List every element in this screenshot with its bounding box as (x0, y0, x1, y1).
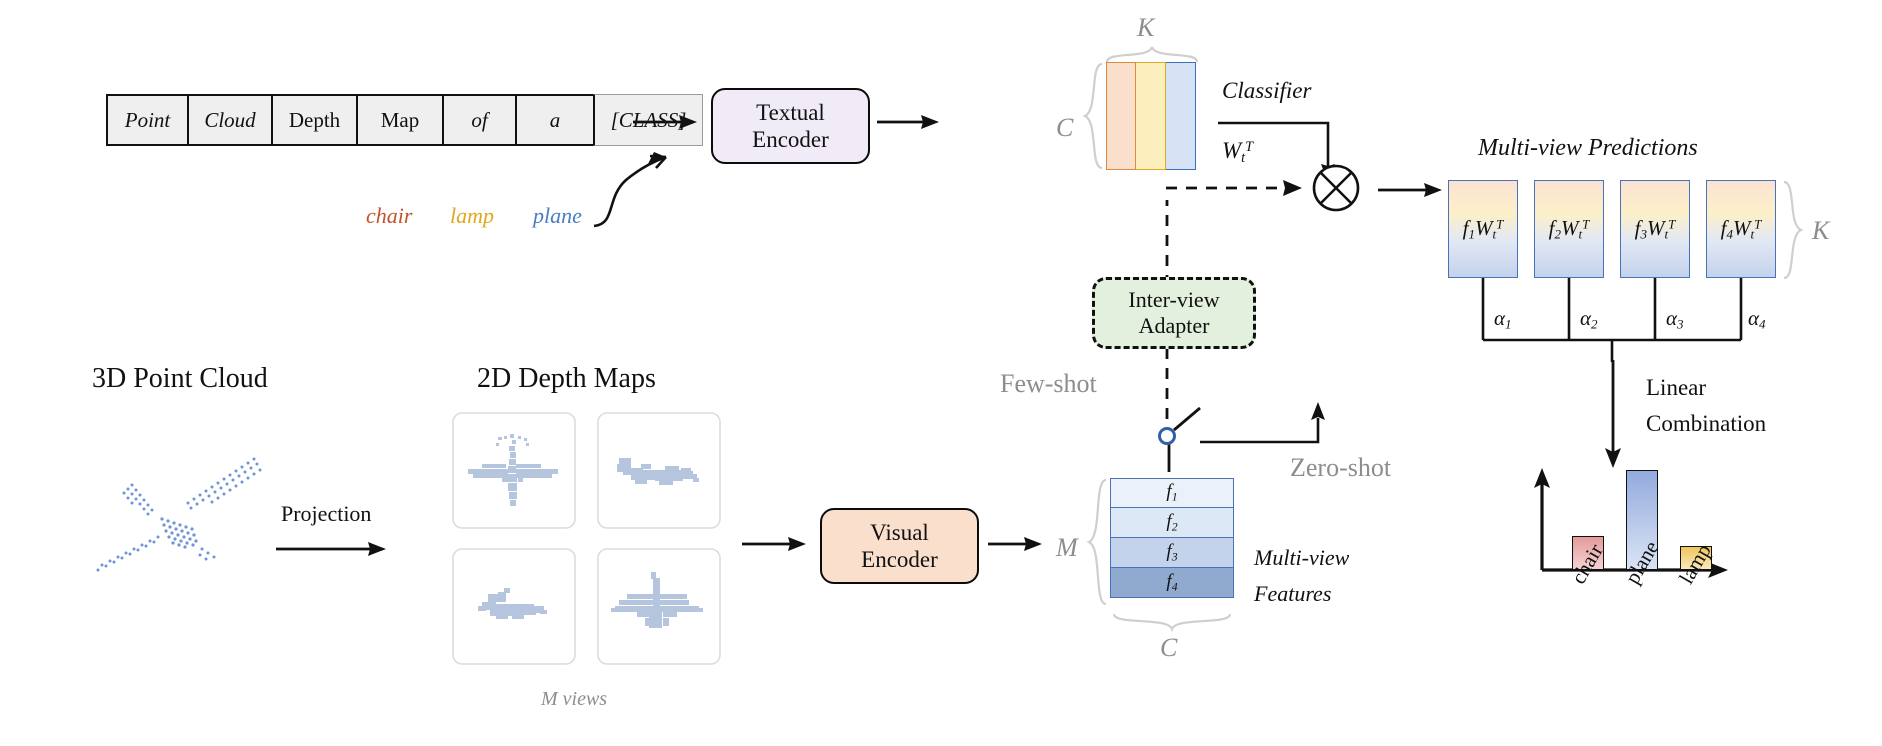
features-cols-brace (1112, 612, 1232, 632)
arrow-textual-encoder-to-classifier (877, 110, 947, 134)
textual-encoder-line1: Textual (756, 99, 825, 126)
prompt-token-map: Map (356, 94, 442, 146)
alpha-label-3: α3 (1666, 306, 1684, 333)
alpha-label-2: α2 (1580, 306, 1598, 333)
depth-map-view-top[interactable] (597, 548, 722, 666)
classifier-label: Classifier (1222, 78, 1311, 104)
features-rows-brace (1086, 478, 1108, 608)
prompt-token-point: Point (106, 94, 187, 146)
multi-view-features-stack: f1 f2 f3 f4 (1110, 478, 1234, 598)
prediction-label-1: f1WtT (1463, 216, 1504, 243)
classifier-column-chair (1106, 62, 1136, 170)
visual-encoder-line2: Encoder (861, 546, 938, 573)
arrow-multiply-to-predictions (1378, 178, 1450, 202)
few-shot-label: Few-shot (1000, 369, 1097, 399)
point-cloud-render (72, 445, 272, 585)
depth-map-view-side[interactable] (597, 412, 722, 530)
prediction-box-4: f4WtT (1706, 180, 1776, 278)
feature-row-f1: f1 (1110, 478, 1234, 508)
prompt-token-a: a (515, 94, 593, 146)
multiply-operator (1310, 162, 1366, 218)
arrow-projection (276, 537, 392, 561)
features-caption-line1: Multi-view (1254, 545, 1349, 571)
feature-label-f3: f3 (1166, 541, 1177, 564)
point-cloud-title: 3D Point Cloud (92, 363, 268, 395)
predictions-brace-label: K (1812, 216, 1829, 246)
feature-row-f2: f2 (1110, 508, 1234, 538)
adapter-line1: Inter-view (1128, 287, 1219, 313)
features-cols-brace-label: C (1160, 633, 1177, 663)
prompt-token-of: of (442, 94, 515, 146)
projection-label: Projection (281, 501, 371, 527)
depth-map-view-front[interactable] (452, 412, 577, 530)
prompt-token-table: Point Cloud Depth Map of a [CLASS] (106, 94, 703, 146)
features-rows-brace-label: M (1056, 533, 1078, 563)
prediction-label-3: f3WtT (1635, 216, 1676, 243)
classifier-cols-brace-label: K (1137, 13, 1154, 43)
predictions-brace (1782, 180, 1804, 280)
prediction-box-2: f2WtT (1534, 180, 1604, 278)
arrow-depthmaps-to-visual-encoder (742, 532, 814, 556)
arrow-adapter-to-multiply (1166, 176, 1312, 200)
feature-label-f1: f1 (1166, 481, 1177, 504)
class-word-chair: chair (366, 203, 412, 229)
arrow-prompt-to-textual-encoder (633, 110, 703, 134)
feature-row-f4: f4 (1110, 568, 1234, 598)
visual-encoder-box[interactable]: Visual Encoder (820, 508, 979, 584)
prompt-token-depth: Depth (271, 94, 356, 146)
feature-label-f4: f4 (1166, 571, 1177, 594)
feature-row-f3: f3 (1110, 538, 1234, 568)
class-word-lamp: lamp (450, 203, 494, 229)
prediction-label-4: f4WtT (1721, 216, 1762, 243)
depth-maps-grid (452, 412, 722, 666)
classifier-column-plane (1166, 62, 1196, 170)
alpha-label-1: α1 (1494, 306, 1512, 333)
zero-shot-label: Zero-shot (1290, 453, 1391, 483)
prediction-box-1: f1WtT (1448, 180, 1518, 278)
classifier-matrix (1106, 62, 1196, 170)
adapter-line2: Adapter (1139, 313, 1210, 339)
dashed-path-origin (1166, 176, 1170, 180)
prediction-box-3: f3WtT (1620, 180, 1690, 278)
dashed-vertical-adapter (1164, 200, 1170, 286)
prediction-label-2: f2WtT (1549, 216, 1590, 243)
features-caption-line2: Features (1254, 581, 1331, 607)
textual-encoder-box[interactable]: Textual Encoder (711, 88, 870, 164)
classifier-cols-brace (1105, 44, 1199, 64)
depth-maps-title: 2D Depth Maps (477, 363, 656, 395)
classifier-rows-brace-label: C (1056, 113, 1073, 143)
feature-label-f2: f2 (1166, 511, 1177, 534)
combination-line2: Combination (1646, 411, 1766, 437)
visual-encoder-line1: Visual (870, 519, 929, 546)
prediction-bar-chart: chair plane lamp (1520, 466, 1750, 626)
classifier-column-lamp (1136, 62, 1166, 170)
class-curved-arrow (580, 140, 710, 230)
inter-view-adapter-box[interactable]: Inter-view Adapter (1092, 277, 1256, 349)
combination-line1: Linear (1646, 375, 1706, 401)
class-word-plane: plane (533, 203, 582, 229)
arrow-linear-combination (1602, 360, 1626, 472)
textual-encoder-line2: Encoder (752, 126, 829, 153)
depth-maps-caption: M views (541, 688, 607, 711)
depth-map-view-oblique[interactable] (452, 548, 577, 666)
prompt-token-cloud: Cloud (187, 94, 271, 146)
zero-shot-path (1200, 400, 1350, 452)
predictions-title: Multi-view Predictions (1478, 135, 1698, 162)
alpha-label-4: α4 (1748, 306, 1766, 333)
arrow-visual-encoder-to-features (988, 532, 1050, 556)
classifier-rows-brace (1082, 62, 1104, 172)
